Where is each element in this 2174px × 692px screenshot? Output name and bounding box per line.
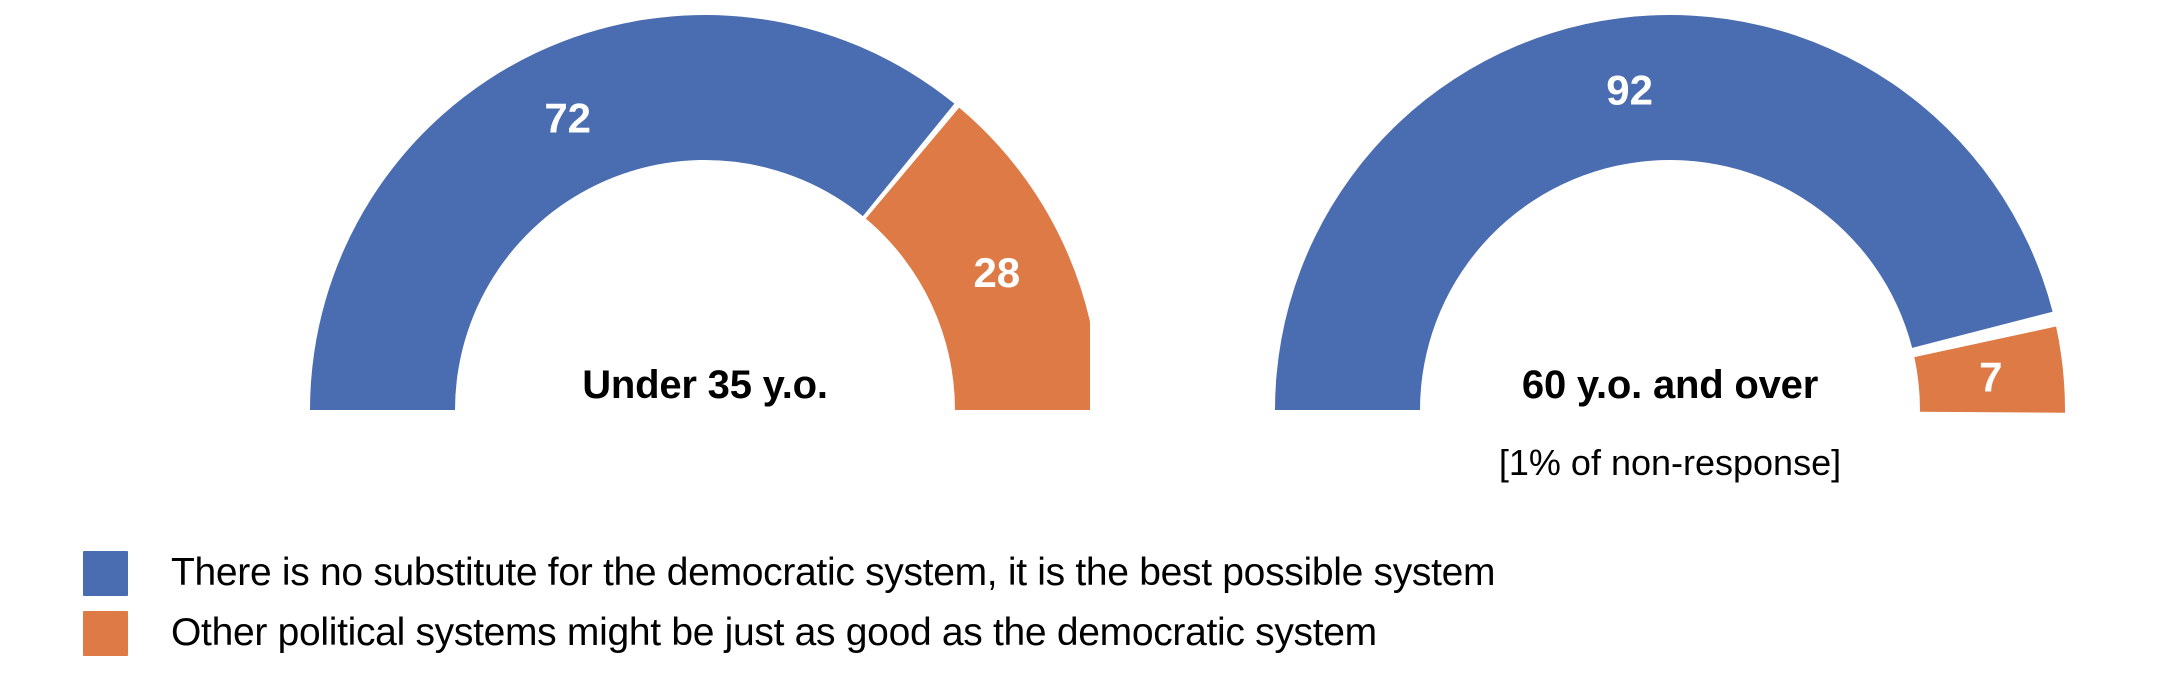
- legend: There is no substitute for the democrati…: [83, 543, 2083, 663]
- gauge-60-and-over-slice-blue: [1275, 15, 2053, 410]
- gauge-60-and-over-caption: 60 y.o. and over: [1400, 363, 1940, 408]
- gauge-under-35-slice-blue: [310, 15, 954, 410]
- legend-swatch-blue-icon: [83, 551, 128, 596]
- gauge-60-and-over-slices: [1275, 15, 2065, 413]
- gauge-60-and-over-value-orange: 7: [1979, 353, 2002, 400]
- gauge-under-35-slices: [310, 15, 1090, 410]
- legend-label-orange: Other political systems might be just as…: [171, 613, 1377, 654]
- legend-item-orange: Other political systems might be just as…: [83, 603, 2083, 663]
- chart-canvas: 72 28 Under 35 y.o. 92 7 60 y.o. and ove…: [0, 0, 2174, 692]
- legend-swatch-orange-icon: [83, 611, 128, 656]
- gauge-under-35-value-blue: 72: [544, 95, 591, 142]
- legend-item-blue: There is no substitute for the democrati…: [83, 543, 2083, 603]
- gauge-60-and-over-note: [1% of non-response]: [1400, 442, 1940, 484]
- gauge-under-35-caption: Under 35 y.o.: [440, 363, 970, 408]
- legend-label-blue: There is no substitute for the democrati…: [171, 553, 1495, 594]
- gauge-60-and-over-value-blue: 92: [1606, 67, 1653, 114]
